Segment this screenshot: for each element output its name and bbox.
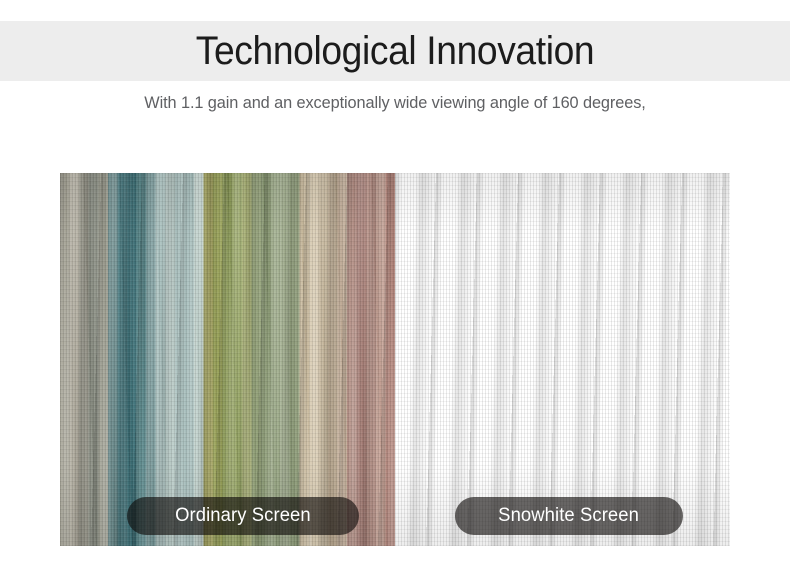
page-title: Technological Innovation	[28, 22, 763, 80]
caption-label-snowhite-screen: Snowhite Screen	[499, 505, 640, 527]
photo-half-ordinary-screen	[60, 173, 395, 546]
caption-label-ordinary-screen: Ordinary Screen	[175, 505, 311, 527]
comparison-photo	[60, 173, 730, 546]
caption-pill-snowhite-screen: Snowhite Screen	[455, 497, 683, 535]
fabric-stripes-snowhite	[395, 173, 730, 546]
caption-pill-ordinary-screen: Ordinary Screen	[127, 497, 359, 535]
fabric-stripes-ordinary	[60, 173, 395, 546]
page-subtitle: With 1.1 gain and an exceptionally wide …	[16, 92, 774, 114]
photo-half-snowhite-screen	[395, 173, 730, 546]
